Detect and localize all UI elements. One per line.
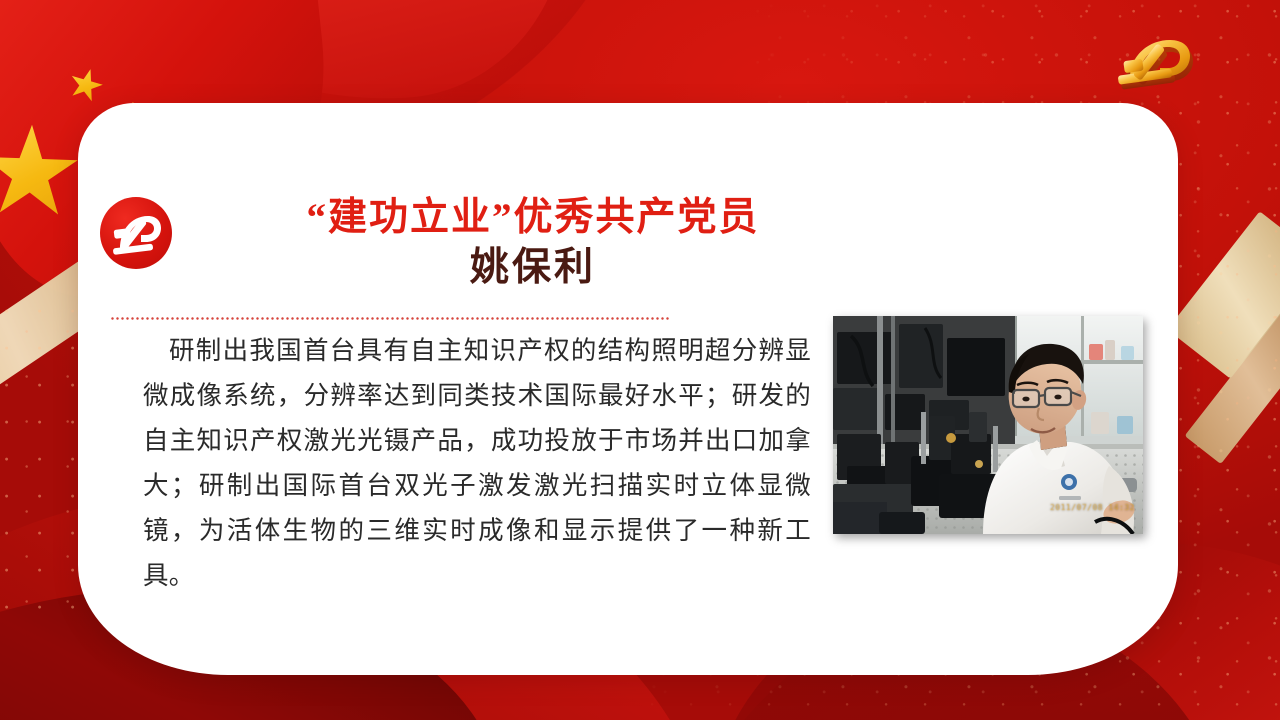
title-line-2-name: 姚保利 — [188, 244, 878, 293]
slide-root: “建功立业”优秀共产党员 姚保利 研制出我国首台具有自主知识产权的结构照明超分辨… — [0, 0, 1280, 720]
body-paragraph: 研制出我国首台具有自主知识产权的结构照明超分辨显微成像系统，分辨率达到同类技术国… — [143, 329, 811, 599]
yao-baoli-laboratory-photo: 2011/07/08 14:32 — [833, 316, 1143, 534]
dotted-divider — [110, 317, 670, 320]
photo-timestamp-watermark: 2011/07/08 14:32 — [1050, 503, 1135, 512]
content-card: “建功立业”优秀共产党员 姚保利 研制出我国首台具有自主知识产权的结构照明超分辨… — [78, 103, 1178, 675]
party-emblem-hammer-sickle-icon — [100, 197, 172, 269]
page-title: “建功立业”优秀共产党员 姚保利 — [188, 196, 878, 292]
gold-hammer-sickle-icon — [1110, 26, 1206, 108]
title-line-1: “建功立业”优秀共产党员 — [188, 196, 878, 240]
